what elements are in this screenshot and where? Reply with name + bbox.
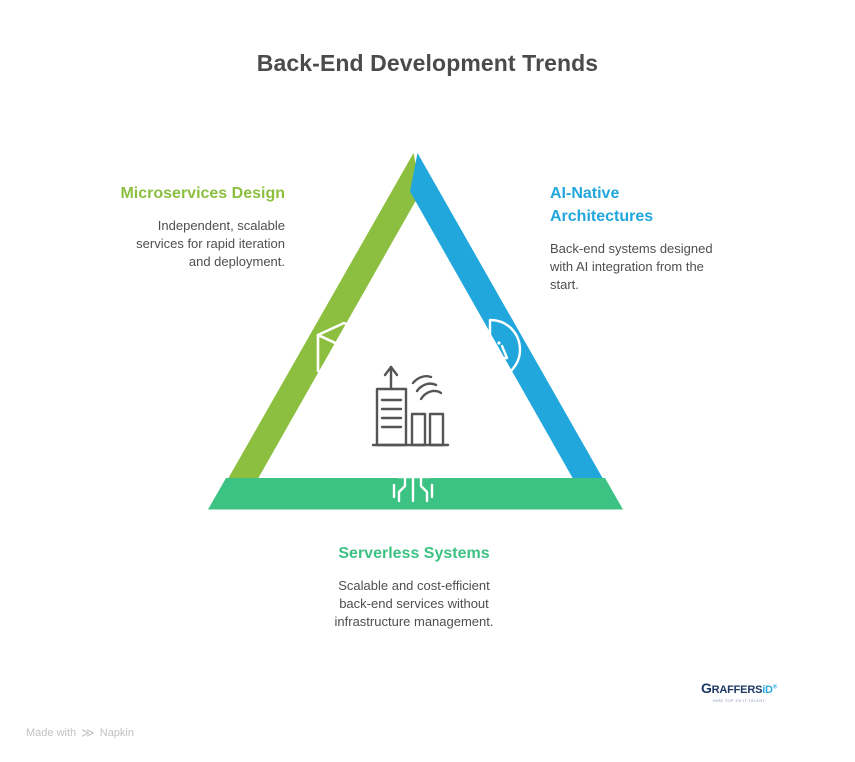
building-antenna-wifi-icon [373,367,448,445]
infographic-canvas: Back-End Development Trends [0,0,855,762]
text-block-microservices: Microservices Design Independent, scalab… [113,182,285,271]
graffersid-logo: GRAFFERSiD® HIRE TOP 3% IT TALENT [700,681,778,703]
napkin-logo-icon: ≫ [81,726,95,739]
page-title: Back-End Development Trends [0,50,855,77]
graffersid-wordmark: GRAFFERSiD® [700,681,778,696]
napkin-brand-label: Napkin [100,727,134,739]
body-serverless: Scalable and cost-efficient back-end ser… [326,577,502,631]
graffersid-tagline: HIRE TOP 3% IT TALENT [700,699,778,703]
cloud-circuit-icon [387,444,439,501]
logo-registered-icon: ® [773,684,777,690]
napkin-made-with-label: Made with [26,727,76,739]
heading-ai-native: AI-Native Architectures [550,182,725,228]
logo-text-id: iD [762,684,773,696]
text-block-ai-native: AI-Native Architectures Back-end systems… [550,182,725,294]
body-microservices: Independent, scalable services for rapid… [113,217,285,271]
logo-text-raffers: RAFFERS [712,684,763,696]
text-block-serverless: Serverless Systems Scalable and cost-eff… [326,542,502,631]
heading-microservices: Microservices Design [113,182,285,205]
napkin-credit[interactable]: Made with ≫ Napkin [26,726,134,739]
logo-letter-g: G [701,680,712,696]
body-ai-native: Back-end systems designed with AI integr… [550,240,725,294]
segment-serverless[interactable] [208,478,623,510]
heading-serverless: Serverless Systems [326,542,502,565]
